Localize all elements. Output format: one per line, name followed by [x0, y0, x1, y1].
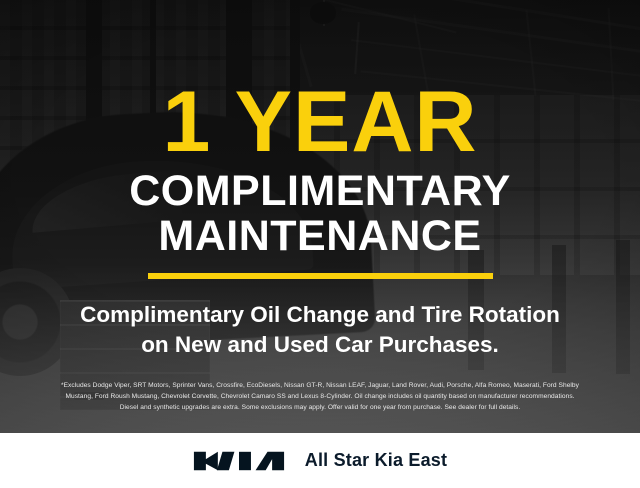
offer-description-line-1: Complimentary Oil Change and Tire Rotati… [80, 300, 560, 330]
promotional-ad: 1 YEAR COMPLIMENTARY MAINTENANCE Complim… [0, 0, 640, 488]
yellow-divider [148, 273, 493, 279]
offer-description-line-2: on New and Used Car Purchases. [141, 330, 499, 360]
disclaimer-line-3: Diesel and synthetic upgrades are extra.… [11, 403, 629, 414]
headline-year: 1 YEAR [162, 83, 477, 162]
headline-complimentary: COMPLIMENTARY [129, 170, 511, 213]
disclaimer-line-1: *Excludes Dodge Viper, SRT Motors, Sprin… [11, 381, 629, 392]
disclaimer-text: *Excludes Dodge Viper, SRT Motors, Sprin… [11, 381, 629, 413]
dealer-name: All Star Kia East [305, 450, 447, 471]
promo-banner: 1 YEAR COMPLIMENTARY MAINTENANCE Complim… [0, 0, 640, 433]
disclaimer-line-2: Mustang, Ford Roush Mustang, Chevrolet C… [11, 392, 629, 403]
kia-logo [193, 449, 285, 473]
headline-maintenance: MAINTENANCE [158, 215, 481, 258]
dealer-footer: All Star Kia East [0, 433, 640, 488]
banner-content: 1 YEAR COMPLIMENTARY MAINTENANCE Complim… [0, 0, 640, 433]
